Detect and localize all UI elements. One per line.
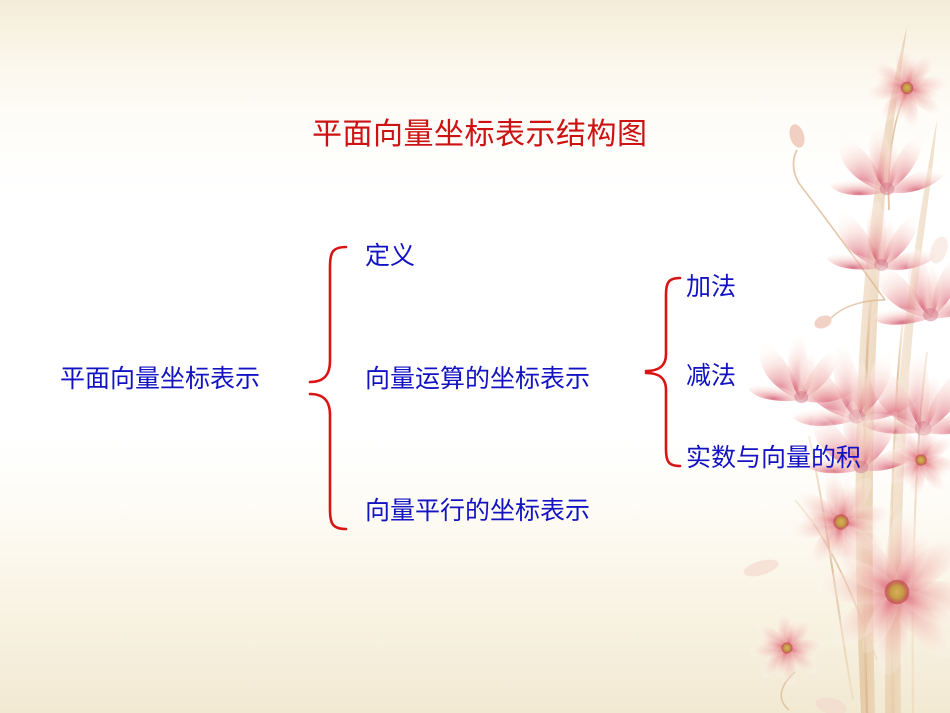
floral-border-decoration <box>735 0 950 713</box>
diagram-leaf-scalar-product: 实数与向量的积 <box>686 445 861 470</box>
diagram-leaf-addition: 加法 <box>686 274 736 299</box>
diagram-node-vector-operations: 向量运算的坐标表示 <box>365 366 590 391</box>
diagram-leaf-subtraction: 减法 <box>686 363 736 388</box>
root-brace-icon <box>306 243 348 533</box>
diagram-node-definition: 定义 <box>365 243 415 268</box>
diagram-root-label: 平面向量坐标表示 <box>60 366 260 391</box>
diagram-node-vector-parallel: 向量平行的坐标表示 <box>365 498 590 523</box>
slide-canvas: 平面向量坐标表示结构图 平面向量坐标表示 定义 向量运算的坐标表示 向量平行的坐… <box>0 0 950 713</box>
operations-brace-icon <box>642 274 682 470</box>
page-title: 平面向量坐标表示结构图 <box>312 120 648 150</box>
